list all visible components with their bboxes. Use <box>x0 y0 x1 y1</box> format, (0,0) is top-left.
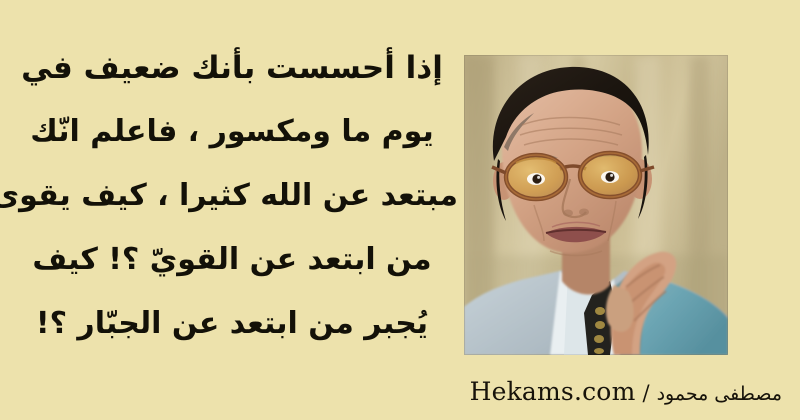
quote-block: إذا أحسست بأنك ضعيف في يوم ما ومكسور ، ف… <box>6 36 458 356</box>
attribution: مصطفى محمود / Hekams.com <box>470 377 782 406</box>
portrait-photo <box>464 55 728 355</box>
attribution-site[interactable]: Hekams.com <box>470 377 636 406</box>
quote-line-5: يُجبر من ابتعد عن الجبّار ؟! <box>6 292 458 356</box>
quote-line-4: من ابتعد عن القويّ ؟! كيف <box>6 228 458 292</box>
quote-line-1: إذا أحسست بأنك ضعيف في <box>6 36 458 100</box>
poster-canvas: إذا أحسست بأنك ضعيف في يوم ما ومكسور ، ف… <box>0 0 800 420</box>
quote-line-2: يوم ما ومكسور ، فاعلم انّك <box>6 100 458 164</box>
quote-line-3: مبتعد عن الله كثيرا ، كيف يقوى <box>6 164 458 228</box>
attribution-separator: / <box>642 381 649 405</box>
attribution-author: مصطفى محمود <box>657 383 782 405</box>
portrait-illustration <box>464 55 728 355</box>
